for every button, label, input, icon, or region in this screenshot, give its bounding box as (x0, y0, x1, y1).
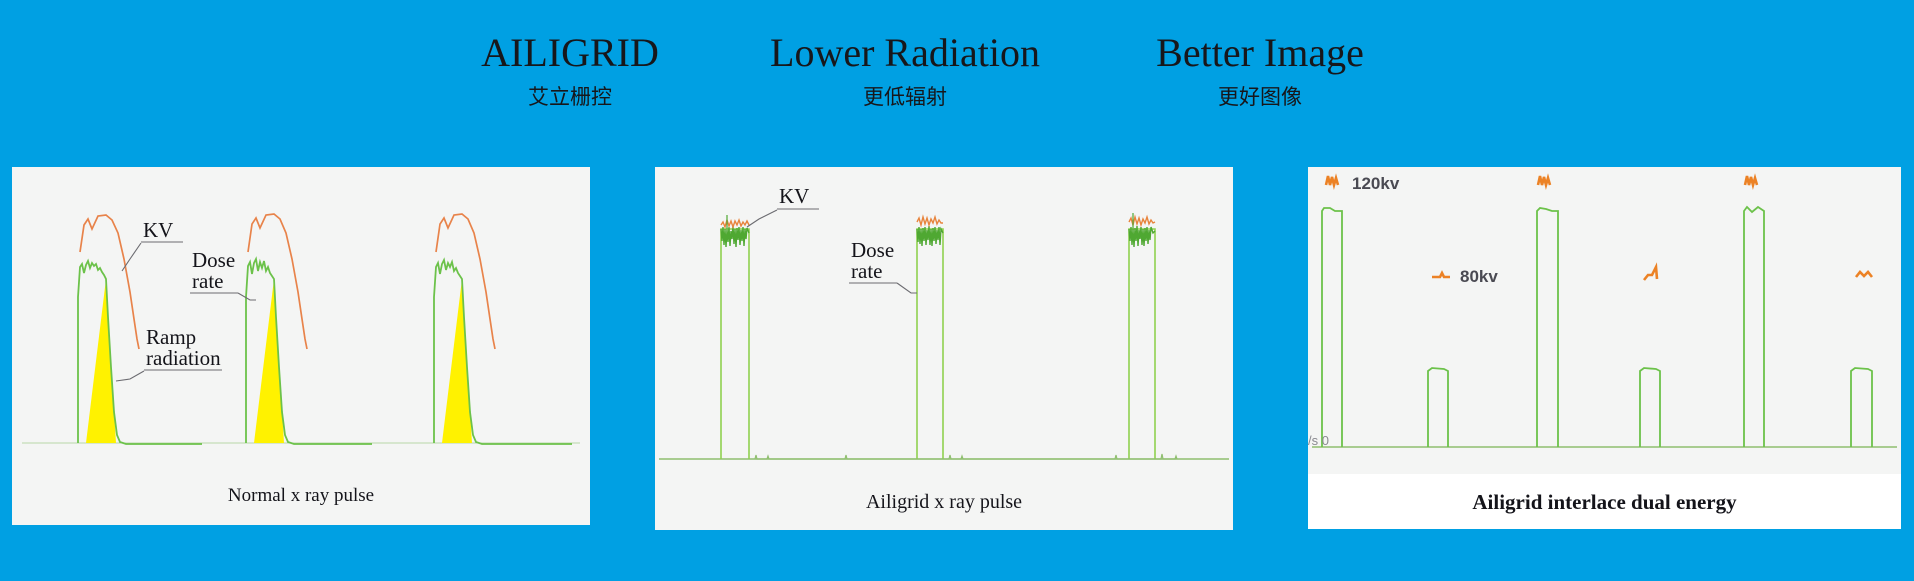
annotation-kv: KV (747, 184, 819, 227)
dose-rate-pulse-1 (721, 229, 749, 459)
header-banner: AILIGRID 艾立栅控 Lower Radiation 更低辐射 Bette… (0, 0, 1914, 140)
annotation-kv: KV (122, 218, 183, 271)
kv-marker-120kv-2 (1538, 176, 1550, 185)
annotation-dose-rate: Dose rate (849, 238, 917, 293)
kv-leader-line (747, 210, 777, 227)
kv-noise-2 (917, 217, 943, 225)
dose-rate-noise-1 (721, 226, 749, 247)
headline-en-better-image: Better Image (1000, 30, 1520, 76)
panel-ailigrid-x-ray-pulse: KV Dose rate Ailigrid x ray pulse (655, 167, 1233, 530)
ramp-radiation-leader-line (116, 371, 144, 381)
annotation-ramp-radiation: Ramp radiation (116, 325, 222, 381)
dose-rate-leader-line (897, 283, 917, 293)
panel-normal-x-ray-pulse: KV Dose rate Ramp radiation Normal x ray… (12, 167, 590, 525)
kv-label: KV (143, 218, 173, 242)
headline-cn-better-image: 更好图像 (1000, 83, 1520, 111)
kv-marker-80kv-3 (1856, 272, 1872, 277)
dose-rate-label-line2: rate (851, 259, 882, 283)
kv-marker-80kv-2 (1644, 267, 1657, 280)
pulse-120kv-1 (1322, 208, 1342, 447)
pulse-80kv-3 (1851, 368, 1872, 447)
pulse-120kv-3 (1744, 207, 1764, 447)
baseline-ripples (755, 454, 1177, 459)
chart-normal-x-ray-pulse: KV Dose rate Ramp radiation (12, 167, 590, 472)
dose-rate-pulse-3 (1129, 229, 1155, 459)
axis-origin-label: /s 0 (1308, 433, 1329, 448)
ramp-radiation-label-line2: radiation (146, 346, 221, 370)
chart-ailigrid-interlace-dual-energy: 120kv 80kv /s 0 (1308, 167, 1901, 474)
dose-rate-pulse-2 (917, 229, 943, 459)
pulse-120kv-2 (1537, 208, 1558, 447)
kv-noise-1 (721, 220, 749, 227)
dose-rate-label-line2: rate (192, 269, 223, 293)
kv-label: KV (779, 184, 809, 208)
kv-marker-120kv-3 (1745, 176, 1757, 185)
chart-ailigrid-x-ray-pulse: KV Dose rate (655, 167, 1233, 479)
caption-ailigrid-x-ray-pulse: Ailigrid x ray pulse (655, 491, 1233, 514)
pulse-80kv-2 (1640, 368, 1660, 447)
kv-marker-120kv-1 (1326, 176, 1338, 185)
legend-label-120kv: 120kv (1352, 174, 1400, 193)
panel-ailigrid-interlace-dual-energy: 120kv 80kv /s 0 Ailigrid interlace dual … (1308, 167, 1901, 529)
pulse-80kv-1 (1428, 368, 1448, 447)
kv-marker-80kv-legend (1432, 273, 1450, 277)
kv-leader-line (122, 243, 141, 271)
caption-ailigrid-interlace-dual-energy: Ailigrid interlace dual energy (1308, 490, 1901, 515)
headline-group-better-image: Better Image 更好图像 (1000, 30, 1520, 111)
caption-normal-x-ray-pulse: Normal x ray pulse (12, 485, 590, 507)
legend-label-80kv: 80kv (1460, 267, 1498, 286)
